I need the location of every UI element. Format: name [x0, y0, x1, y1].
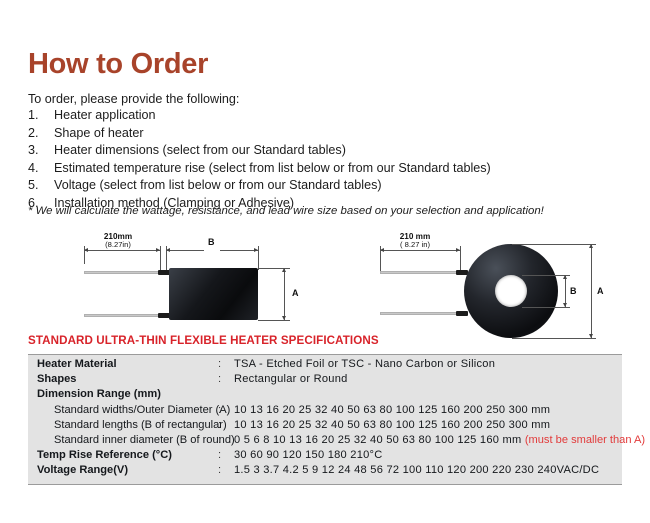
spec-value: Rectangular or Round: [234, 373, 622, 385]
spec-label: Shapes: [28, 373, 218, 385]
lead-wire-bottom: [84, 314, 166, 317]
rect-height-arrow-bottom: [282, 316, 286, 320]
spec-label: Standard inner diameter (B of round): [28, 434, 218, 446]
rect-width-arrow-left: [166, 248, 170, 252]
rect-width-ext-right: [258, 246, 259, 270]
spec-colon: :: [218, 464, 234, 476]
spec-label: Temp Rise Reference (°C): [28, 449, 218, 461]
rectangular-heater-diagram: 210mm (8.27in) B A: [62, 232, 332, 340]
round-outer-arrow-bottom: [589, 334, 593, 338]
table-row: Standard lengths (B of rectangular) : 10…: [28, 419, 622, 434]
list-item-number: 2.: [28, 126, 54, 140]
spec-colon: :: [218, 358, 234, 370]
rect-lead-arrow-left: [84, 248, 88, 252]
rect-width-arrow-right: [254, 248, 258, 252]
rect-lead-length-label: 210mm (8.27in): [76, 232, 160, 250]
spec-label: Dimension Range (mm): [28, 388, 218, 400]
round-outer-dim-line: [591, 244, 592, 338]
rect-width-dim-line: [166, 250, 204, 251]
table-row: Temp Rise Reference (°C) : 30 60 90 120 …: [28, 449, 622, 464]
rect-lead-arrow-right: [156, 248, 160, 252]
table-row: Dimension Range (mm): [28, 388, 622, 403]
order-requirements-list: 1. Heater application 2. Shape of heater…: [28, 108, 628, 213]
rectangular-heater-body: [169, 268, 258, 320]
table-row: Shapes : Rectangular or Round: [28, 373, 622, 388]
list-item: 2. Shape of heater: [28, 126, 628, 144]
intro-text: To order, please provide the following:: [28, 92, 239, 106]
list-item-number: 5.: [28, 178, 54, 192]
rect-lead-dim-line: [84, 250, 160, 251]
round-outer-label: A: [597, 286, 604, 296]
spec-label: Voltage Range(V): [28, 464, 218, 476]
list-item: 1. Heater application: [28, 108, 628, 126]
specifications-table: Heater Material : TSA - Etched Foil or T…: [28, 354, 622, 485]
round-lead-dim-line: [380, 250, 460, 251]
spec-colon: :: [218, 434, 234, 446]
spec-label: Standard lengths (B of rectangular): [28, 419, 218, 431]
round-lead-arrow-left: [380, 248, 384, 252]
spec-value-text: 0 5 6 8 10 13 16 20 25 32 40 50 63 80 10…: [234, 434, 525, 446]
round-lead-ext-right: [460, 246, 461, 272]
list-item-number: 3.: [28, 143, 54, 157]
rect-height-label: A: [292, 288, 299, 298]
rect-lead-ext-right: [160, 246, 161, 272]
table-row: Voltage Range(V) : 1.5 3 3.7 4.2 5 9 12 …: [28, 464, 622, 479]
spec-value: 10 13 16 20 25 32 40 50 63 80 100 125 16…: [234, 419, 622, 431]
round-heater-diagram: 210 mm ( 8.27 in) B A: [362, 232, 642, 340]
rect-height-dim-line: [284, 268, 285, 320]
spec-value: TSA - Etched Foil or TSC - Nano Carbon o…: [234, 358, 622, 370]
list-item-label: Estimated temperature rise (select from …: [54, 161, 628, 175]
round-lead-arrow-right: [456, 248, 460, 252]
rect-width-label: B: [208, 237, 215, 247]
table-row: Standard inner diameter (B of round) : 0…: [28, 434, 622, 449]
spec-section-heading: STANDARD ULTRA-THIN FLEXIBLE HEATER SPEC…: [28, 334, 379, 347]
spec-value-warning-note: (must be smaller than A): [525, 434, 645, 446]
list-item: 5. Voltage (select from list below or fr…: [28, 178, 628, 196]
round-outer-ext-top: [512, 244, 596, 245]
lead-wire-top: [84, 271, 166, 274]
table-row: Heater Material : TSA - Etched Foil or T…: [28, 358, 622, 373]
spec-value: 30 60 90 120 150 180 210°C: [234, 449, 622, 461]
list-item-label: Voltage (select from list below or from …: [54, 178, 628, 192]
list-item-number: 4.: [28, 161, 54, 175]
list-item: 4. Estimated temperature rise (select fr…: [28, 161, 628, 179]
round-crimp-bottom: [456, 311, 468, 316]
spec-colon: :: [218, 449, 234, 461]
spec-colon: :: [218, 419, 234, 431]
list-item-label: Shape of heater: [54, 126, 628, 140]
spec-label: Heater Material: [28, 358, 218, 370]
heater-diagrams: 210mm (8.27in) B A: [0, 232, 650, 340]
spec-value: 0 5 6 8 10 13 16 20 25 32 40 50 63 80 10…: [234, 434, 645, 446]
round-inner-arrow-bottom: [563, 303, 567, 307]
spec-label: Standard widths/Outer Diameter (A): [28, 404, 218, 416]
rect-height-arrow-top: [282, 268, 286, 272]
round-outer-ext-bottom: [512, 338, 596, 339]
round-inner-arrow-top: [563, 275, 567, 279]
spec-value: 1.5 3 3.7 4.2 5 9 12 24 48 56 72 100 110…: [234, 464, 622, 476]
round-inner-label: B: [570, 286, 577, 296]
list-item-label: Heater application: [54, 108, 628, 122]
rect-lead-length-in: (8.27in): [76, 241, 160, 250]
rect-height-ext-bottom: [258, 320, 290, 321]
rect-width-dim-line-2: [220, 250, 258, 251]
list-item: 3. Heater dimensions (select from our St…: [28, 143, 628, 161]
round-lead-wire-bottom: [380, 312, 464, 315]
spec-colon: :: [218, 373, 234, 385]
spec-value: 10 13 16 20 25 32 40 50 63 80 100 125 16…: [234, 404, 622, 416]
list-item-label: Heater dimensions (select from our Stand…: [54, 143, 628, 157]
list-item-number: 1.: [28, 108, 54, 122]
spec-colon: :: [218, 404, 234, 416]
round-lead-wire-top: [380, 271, 464, 274]
round-heater-inner-hole: [495, 275, 527, 307]
round-inner-ext-bottom: [522, 307, 570, 308]
footnote-text: * We will calculate the wattage, resista…: [28, 205, 544, 217]
round-outer-arrow-top: [589, 244, 593, 248]
page-title: How to Order: [28, 50, 208, 79]
table-row: Standard widths/Outer Diameter (A) : 10 …: [28, 404, 622, 419]
